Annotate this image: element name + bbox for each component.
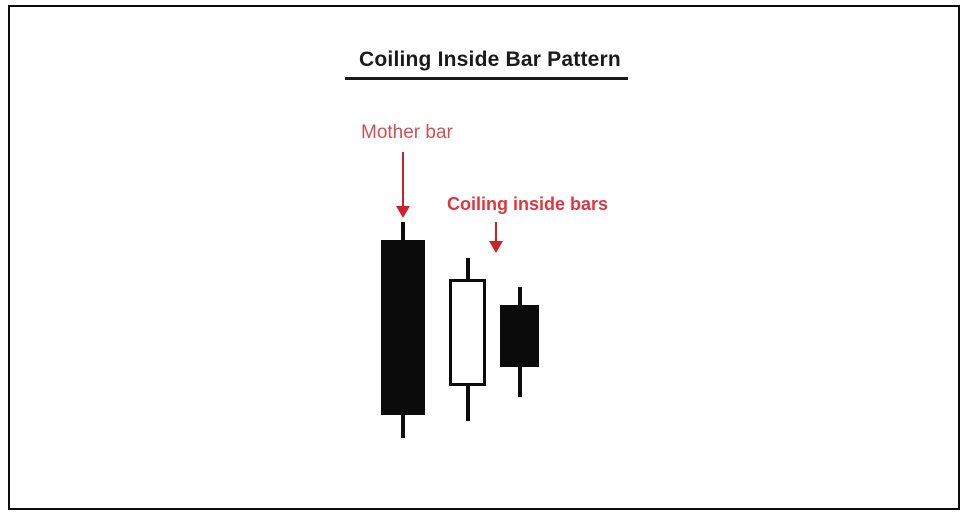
candle-upper-wick xyxy=(401,222,405,242)
candle-body xyxy=(500,305,539,367)
arrow-head xyxy=(489,241,503,253)
candle-body xyxy=(381,240,425,415)
arrow-down-icon-mother-bar xyxy=(396,152,410,220)
candle-body xyxy=(449,279,486,386)
candlestick-inside-bar-2 xyxy=(500,287,539,397)
candle-upper-wick xyxy=(518,287,522,307)
candlestick-inside-bar-1 xyxy=(449,258,486,421)
arrow-shaft xyxy=(402,152,404,208)
candle-lower-wick xyxy=(466,384,470,421)
arrow-down-icon-coiling-inside-bars xyxy=(489,222,503,254)
title-underline xyxy=(345,77,628,80)
diagram-canvas: Coiling Inside Bar Pattern Mother bar Co… xyxy=(0,0,970,519)
candle-upper-wick xyxy=(466,258,470,281)
annotation-label-mother-bar: Mother bar xyxy=(361,122,453,144)
candle-lower-wick xyxy=(518,365,522,397)
arrow-head xyxy=(396,206,410,218)
candle-lower-wick xyxy=(401,413,405,438)
candlestick-mother-bar xyxy=(381,222,425,438)
annotation-label-coiling-inside-bars: Coiling inside bars xyxy=(447,194,608,215)
arrow-shaft xyxy=(495,222,497,243)
page-title: Coiling Inside Bar Pattern xyxy=(345,48,635,72)
